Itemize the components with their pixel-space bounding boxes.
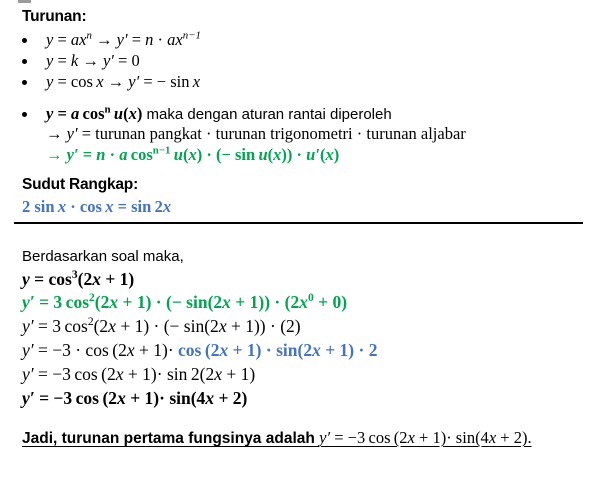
conclusion-formula: y′ = −3 cos (2x + 1)· sin(4x + 2).: [319, 428, 531, 447]
conclusion-label: Jadi, turunan pertama fungsinya adalah: [22, 430, 319, 447]
bullet-dot-icon: [22, 112, 27, 117]
solution-line-step-4: y′ = −3 cos (2x + 1)· sin 2(2x + 1): [22, 364, 255, 385]
solution-line-step-2: y′ = 3 cos2(2x + 1) · (− sin(2x + 1)) · …: [22, 316, 301, 337]
solution-line-step-3: y′ = −3 · cos (2x + 1)· cos (2x + 1) · s…: [22, 340, 377, 361]
bullet-dot-icon: [22, 59, 27, 64]
document-page: Turunan: y = axn → y′ = n · axn−1 y = k …: [0, 0, 608, 493]
bullet-dot-icon: [22, 80, 27, 85]
solution-line-step-1: y′ = 3 cos2(2x + 1) · (− sin(2x + 1)) · …: [22, 292, 347, 313]
solution-line-step-5: y′ = −3 cos (2x + 1)· sin(4x + 2): [22, 388, 247, 409]
heading-sudut-rangkap: Sudut Rangkap:: [22, 176, 138, 194]
rule-constant: y = k → y′ = 0: [46, 51, 140, 71]
section-divider: [14, 222, 583, 224]
rule-cosine: y = cos x → y′ = − sin x: [46, 72, 200, 92]
double-angle-identity: 2 sin x · cos x = sin 2x: [22, 197, 171, 217]
rule-power: y = axn → y′ = n · axn−1: [46, 30, 201, 50]
chain-rule-statement: y = a cosn u(x) maka dengan aturan ranta…: [46, 104, 392, 124]
solution-intro: Berdasarkan soal maka,: [22, 248, 184, 265]
chain-rule-step-1: → y′ = turunan pangkat · turunan trigono…: [46, 124, 466, 144]
chain-rule-step-2: → y′ = n · a cosn−1 u(x) · (− sin u(x)) …: [46, 145, 339, 165]
bullet-dot-icon: [22, 38, 27, 43]
conclusion-statement: Jadi, turunan pertama fungsinya adalah y…: [22, 428, 532, 448]
solution-line-function: y = cos3(2x + 1): [22, 269, 134, 290]
top-gray-mark: [18, 0, 31, 3]
heading-turunan: Turunan:: [22, 8, 86, 26]
